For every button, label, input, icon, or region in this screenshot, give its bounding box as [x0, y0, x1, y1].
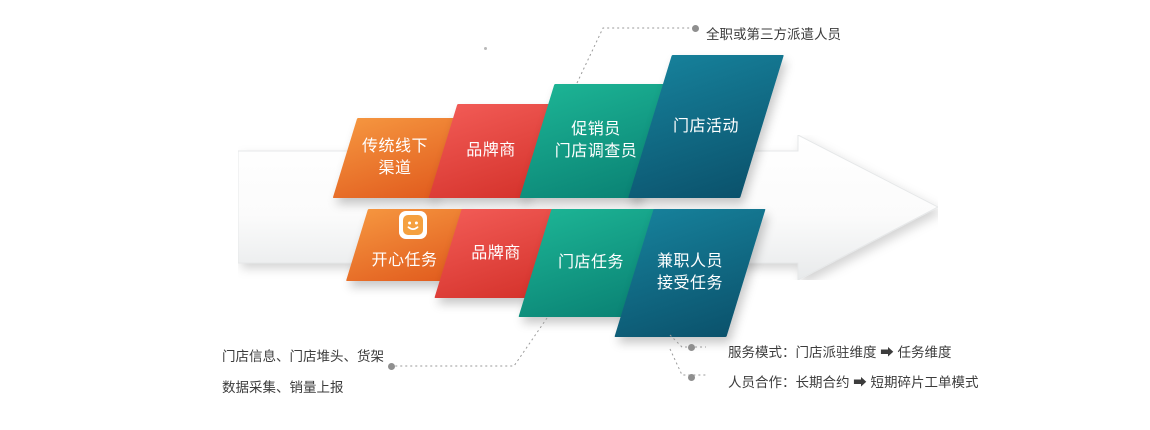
- callout-dot-top-right: [692, 25, 699, 32]
- callout-text-bottom-left: 门店信息、门店堆头、货架 数据采集、销量上报: [222, 341, 384, 403]
- chip-bottom-4-label: 兼职人员 接受任务: [634, 209, 746, 337]
- callout-text-top-right: 全职或第三方派遣人员: [706, 22, 841, 48]
- callout-text-bottom-right-2: 人员合作：长期合约 ➡ 短期碎片工单模式: [728, 370, 979, 396]
- callout-text-bottom-right-1: 服务模式：门店派驻维度 ➡ 任务维度: [728, 340, 952, 366]
- decorative-speck: [484, 47, 487, 50]
- callout-dot-bottom-right-2: [688, 374, 695, 381]
- callout-dot-bottom-left: [388, 363, 395, 370]
- happy-smile-icon: [399, 211, 427, 239]
- chip-top-1-label: 传统线下 渠道: [345, 118, 445, 198]
- chip-bottom-4[interactable]: 兼职人员 接受任务: [614, 209, 765, 337]
- diagram-canvas: 传统线下 渠道 品牌商 促销员 门店调查员 门店活动 开心任务 品牌商 门店任务…: [0, 0, 1150, 430]
- callout-leader-bottom-left: [392, 316, 552, 372]
- callout-leader-top-right: [575, 26, 700, 86]
